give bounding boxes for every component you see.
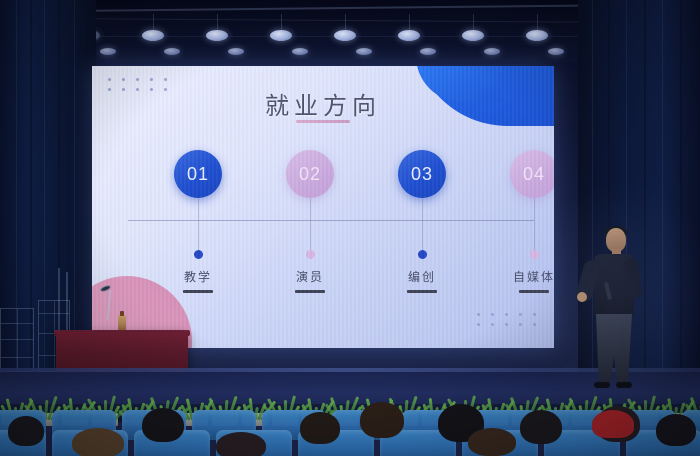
audience-head	[300, 412, 340, 444]
item-label-underline	[407, 290, 437, 293]
grid-dot	[150, 78, 153, 81]
stage-light	[142, 30, 164, 41]
slide-item-01: 01教学	[152, 150, 244, 293]
presenter	[576, 228, 638, 388]
item-number-bubble: 01	[174, 150, 222, 198]
slide-items-group: 01教学02演员03编创04自媒体	[92, 150, 554, 340]
stage-light	[398, 30, 420, 41]
item-number-bubble: 04	[510, 150, 554, 198]
audience-head	[8, 416, 44, 446]
audience-head	[520, 410, 562, 444]
auditorium-presentation-photo: 就业方向 01教学02演员03编创04自媒体	[0, 0, 700, 456]
item-label: 编创	[376, 268, 468, 285]
item-label: 教学	[152, 268, 244, 285]
slide-item-02: 02演员	[264, 150, 356, 293]
item-number-bubble: 02	[286, 150, 334, 198]
presenter-shoe	[616, 382, 632, 388]
slide-item-03: 03编创	[376, 150, 468, 293]
item-marker-dot	[530, 250, 539, 259]
stage-light	[356, 48, 372, 55]
ceiling-truss	[30, 4, 670, 13]
item-number-bubble: 03	[398, 150, 446, 198]
item-label-underline	[519, 290, 549, 293]
title-underline	[296, 120, 350, 123]
audience-area	[0, 398, 700, 456]
item-connector-line	[534, 198, 535, 250]
stage-light	[206, 30, 228, 41]
presenter-legs	[596, 314, 632, 386]
audience-head	[216, 432, 266, 456]
item-label-underline	[183, 290, 213, 293]
stage-light	[100, 48, 116, 55]
stage-light	[292, 48, 308, 55]
slide-item-04: 04自媒体	[488, 150, 554, 293]
equipment-ladder	[0, 308, 34, 372]
audience-red-cap	[592, 410, 634, 438]
projection-screen: 就业方向 01教学02演员03编创04自媒体	[92, 66, 554, 348]
item-connector-line	[310, 198, 311, 250]
ceiling-truss	[40, 18, 660, 23]
grid-dot	[108, 78, 111, 81]
audience-head	[656, 414, 696, 446]
stage-light	[164, 48, 180, 55]
grid-dot	[164, 78, 167, 81]
presenter-hand	[577, 292, 587, 302]
item-marker-dot	[418, 250, 427, 259]
audience-head	[468, 428, 516, 456]
audience-head	[360, 402, 404, 438]
grid-dot	[122, 78, 125, 81]
grid-dot	[136, 78, 139, 81]
stage-light	[420, 48, 436, 55]
item-connector-line	[422, 198, 423, 250]
item-marker-dot	[194, 250, 203, 259]
presenter-shoe	[594, 382, 610, 388]
slide-title: 就业方向	[92, 86, 554, 121]
stage-light	[462, 30, 484, 41]
item-label-underline	[295, 290, 325, 293]
audience-head	[72, 428, 124, 456]
item-label: 演员	[264, 268, 356, 285]
stage-light	[526, 30, 548, 41]
item-marker-dot	[306, 250, 315, 259]
stage-light	[484, 48, 500, 55]
stage-light	[334, 30, 356, 41]
stage-light	[548, 48, 564, 55]
stage-light	[270, 30, 292, 41]
stage-light	[228, 48, 244, 55]
audience-head	[142, 408, 184, 442]
item-connector-line	[198, 198, 199, 250]
item-label: 自媒体	[488, 268, 554, 285]
